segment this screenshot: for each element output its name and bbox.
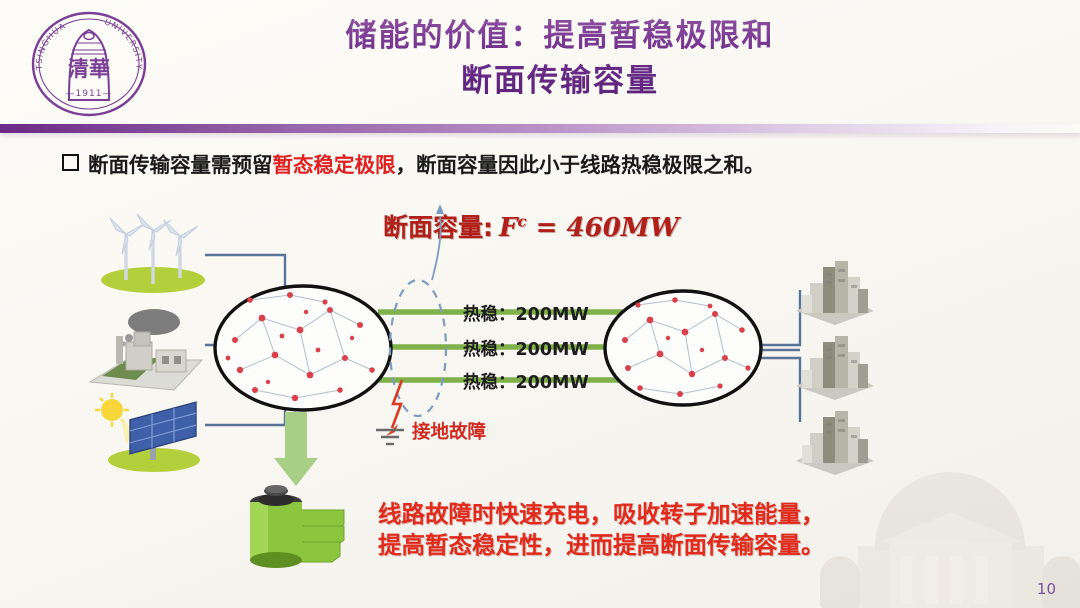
bullet-highlight: 暂态稳定极限 (273, 153, 396, 177)
conclusion-line2: 提高暂态稳定性，进而提高断面传输容量。 (378, 530, 825, 561)
slide-canvas: 清華 —1911— TSINGHUA UNIVERSITY 储能的价值：提高暂稳… (0, 0, 1080, 608)
city-load-icon (790, 255, 880, 327)
charge-arrow-icon (274, 412, 318, 486)
bullet-statement: 断面传输容量需预留暂态稳定极限，断面容量因此小于线路热稳极限之和。 (62, 148, 1022, 178)
conclusion-line1: 线路故障时快速充电，吸收转子加速能量， (378, 499, 825, 530)
tsinghua-university-seal-logo: 清華 —1911— TSINGHUA UNIVERSITY (24, 8, 154, 120)
solar-panel-icon (92, 392, 212, 474)
slide-title: 储能的价值：提高暂稳极限和 断面传输容量 (160, 14, 960, 104)
svg-text:—1911—: —1911— (66, 89, 113, 99)
tie-line-label-1: 热稳：200MW (463, 301, 589, 326)
conclusion-text: 线路故障时快速充电，吸收转子加速能量， 提高暂态稳定性，进而提高断面传输容量。 (378, 499, 825, 562)
battery-storage-icon (240, 478, 355, 570)
header-divider (0, 124, 1080, 133)
thermal-power-plant-icon (82, 298, 212, 398)
svg-text:清華: 清華 (68, 57, 110, 81)
slide-title-line2: 断面传输容量 (160, 59, 960, 104)
ground-fault-label: 接地故障 (412, 418, 486, 444)
receiving-grid-ellipse (605, 291, 761, 405)
city-load-icon (790, 405, 880, 477)
bullet-suffix: ，断面容量因此小于线路热稳极限之和。 (396, 153, 765, 177)
tie-line-label-3: 热稳：200MW (463, 369, 589, 394)
slide-title-line1: 储能的价值：提高暂稳极限和 (346, 18, 775, 54)
bullet-prefix: 断面传输容量需预留 (88, 153, 273, 177)
tie-line-label-2: 热稳：200MW (463, 336, 589, 361)
city-load-icon (790, 330, 880, 402)
sending-grid-ellipse (215, 286, 391, 410)
page-number: 10 (1037, 580, 1056, 598)
wind-turbine-icon (96, 208, 211, 293)
bullet-square-icon (62, 154, 79, 171)
